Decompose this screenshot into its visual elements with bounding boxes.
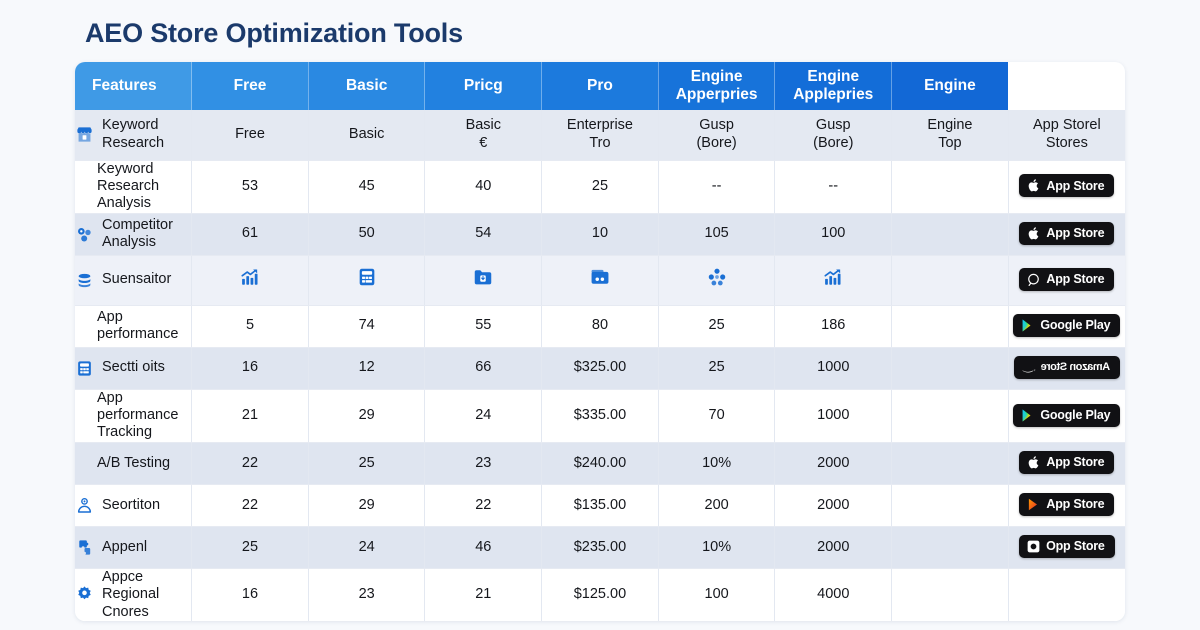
square-dot-icon (1026, 539, 1041, 554)
cell-pro: 10 (542, 213, 659, 255)
table-header: FeaturesFreeBasicPricgProEngine Apperpri… (75, 62, 1125, 110)
cell-engine-applepries: 1000 (775, 389, 892, 442)
storefront-icon (75, 125, 94, 144)
cell-engine-coverage[interactable]: Amazon Store (1008, 347, 1125, 389)
feature-cell: Suensaitor (75, 255, 192, 305)
cell-pro: $335.00 (542, 389, 659, 442)
column-header-line: Engine Coverage (1032, 68, 1103, 103)
cell-engine (892, 568, 1009, 621)
feature-cell: Keyword ResearchAnalysis (75, 160, 192, 213)
cell-engine-coverage[interactable]: App Store (1008, 484, 1125, 526)
store-badge-label: App Store (1046, 273, 1104, 286)
cell-pricg: 23 (425, 442, 542, 484)
cell-engine-apperpries (658, 255, 775, 305)
cell-engine (892, 213, 1009, 255)
table-row[interactable]: App performanceTracking212924$335.007010… (75, 389, 1125, 442)
calculator-icon (75, 359, 94, 378)
feature-cell: Competitor Analysis (75, 213, 192, 255)
cell-engine-applepries: -- (775, 160, 892, 213)
apple-icon (1026, 178, 1041, 193)
feature-label: Sectti oits (102, 359, 165, 376)
comparison-table-container: FeaturesFreeBasicPricgProEngine Apperpri… (75, 62, 1125, 621)
orange-triangle-icon (1026, 497, 1041, 512)
feature-cell: Appce RegionalCnores (75, 568, 192, 621)
store-badge-opp-store[interactable]: Opp Store (1019, 535, 1115, 558)
feature-cell: Seortiton (75, 484, 192, 526)
column-header-pricg[interactable]: Pricg (425, 62, 542, 110)
cell-engine-apperpries: Gusp(Bore) (658, 110, 775, 160)
cell-engine-applepries: 2000 (775, 484, 892, 526)
table-row[interactable]: Competitor Analysis61505410105100App Sto… (75, 213, 1125, 255)
column-header-free[interactable]: Free (192, 62, 309, 110)
feature-label: Appce RegionalCnores (102, 569, 191, 621)
cell-basic (308, 255, 425, 305)
column-header-engine-applepries[interactable]: Engine Applepries (775, 62, 892, 110)
column-header-engine-apperpries[interactable]: Engine Apperpries (658, 62, 775, 110)
calculator-icon (356, 266, 378, 288)
cell-engine-applepries: 186 (775, 305, 892, 347)
cell-engine (892, 347, 1009, 389)
cell-free: 5 (192, 305, 309, 347)
cell-engine-coverage[interactable]: App Store (1008, 442, 1125, 484)
cell-basic: Basic (308, 110, 425, 160)
cell-pro: $325.00 (542, 347, 659, 389)
column-header-line: Engine Apperpries (676, 68, 758, 103)
feature-cell: Sectti oits (75, 347, 192, 389)
store-badge-orange-app-store[interactable]: App Store (1019, 493, 1114, 516)
cell-free: 61 (192, 213, 309, 255)
cell-engine-apperpries: 100 (658, 568, 775, 621)
cell-free: 21 (192, 389, 309, 442)
feature-cell: Appenl (75, 526, 192, 568)
cell-free: 22 (192, 484, 309, 526)
folder-icon (472, 266, 494, 288)
page-root: AEO Store Optimization Tools FeaturesFre… (0, 0, 1200, 630)
column-header-line: Engine (924, 77, 976, 94)
cell-engine (892, 255, 1009, 305)
cell-pro: $135.00 (542, 484, 659, 526)
cell-pro: $240.00 (542, 442, 659, 484)
cell-basic: 50 (308, 213, 425, 255)
cell-basic: 45 (308, 160, 425, 213)
table-row[interactable]: Appce RegionalCnores162321$125.001004000 (75, 568, 1125, 621)
cell-pro: $235.00 (542, 526, 659, 568)
cell-pro: EnterpriseTro (542, 110, 659, 160)
cell-basic: 29 (308, 484, 425, 526)
cell-engine: EngineTop (892, 110, 1009, 160)
feature-label: Keyword ResearchAnalysis (97, 161, 191, 213)
cell-engine-coverage[interactable]: Opp Store (1008, 526, 1125, 568)
comparison-table: FeaturesFreeBasicPricgProEngine Apperpri… (75, 62, 1125, 621)
store-badge-label: App Store (1046, 180, 1104, 193)
feature-cell: A/B Testing (75, 442, 192, 484)
cell-engine-apperpries: 25 (658, 347, 775, 389)
table-row[interactable]: SuensaitorApp Store (75, 255, 1125, 305)
cell-basic: 24 (308, 526, 425, 568)
table-header-row: FeaturesFreeBasicPricgProEngine Apperpri… (75, 62, 1125, 110)
database-icon (75, 271, 94, 290)
store-badge-apple-app-store[interactable]: App Store (1019, 222, 1114, 245)
store-badge-amazon-store[interactable]: Amazon Store (1014, 356, 1120, 379)
feature-label: Competitor Analysis (102, 217, 191, 252)
cell-engine-coverage[interactable]: App Store (1008, 213, 1125, 255)
cell-engine-apperpries: 70 (658, 389, 775, 442)
table-row[interactable]: Keyword ResearchAnalysis53454025----App … (75, 160, 1125, 213)
cell-engine-applepries: 100 (775, 213, 892, 255)
cell-engine-coverage[interactable]: Google Play (1008, 305, 1125, 347)
column-header-line: Features (92, 77, 157, 94)
cell-engine-coverage[interactable]: App Store (1008, 160, 1125, 213)
cell-engine-apperpries: 10% (658, 526, 775, 568)
cell-engine (892, 526, 1009, 568)
cell-engine-applepries: 2000 (775, 526, 892, 568)
store-badge-apple-app-store[interactable]: App Store (1019, 451, 1114, 474)
feature-cell: Keyword Research (75, 110, 192, 160)
cell-engine (892, 389, 1009, 442)
feature-label: App performanceTracking (97, 390, 191, 442)
cell-engine (892, 160, 1009, 213)
cell-free: 53 (192, 160, 309, 213)
cell-basic: 74 (308, 305, 425, 347)
cell-pricg: 21 (425, 568, 542, 621)
store-badge-google-play[interactable]: Google Play (1013, 404, 1120, 427)
cell-engine-coverage (1008, 568, 1125, 621)
cell-pricg: 22 (425, 484, 542, 526)
cell-engine-applepries: Gusp(Bore) (775, 110, 892, 160)
apple-icon (1026, 226, 1041, 241)
play-triangle-icon (1020, 318, 1035, 333)
column-header-pro[interactable]: Pro (542, 62, 659, 110)
gear-cluster-icon (75, 225, 94, 244)
cell-free: 16 (192, 568, 309, 621)
gear-icon (75, 585, 94, 604)
chart-up-icon (239, 266, 261, 288)
cell-engine-applepries: 4000 (775, 568, 892, 621)
cell-engine-apperpries: 10% (658, 442, 775, 484)
store-badge-label: App Store (1046, 498, 1104, 511)
table-row[interactable]: Appenl252446$235.0010%2000Opp Store (75, 526, 1125, 568)
store-badge-label: App Store (1046, 227, 1104, 240)
cell-pricg: 55 (425, 305, 542, 347)
circle-outline-icon (1026, 272, 1041, 287)
cell-engine-applepries (775, 255, 892, 305)
column-header-line: Free (234, 77, 267, 94)
cell-free: Free (192, 110, 309, 160)
table-row[interactable]: Seortiton222922$135.002002000App Store (75, 484, 1125, 526)
cell-pro: 80 (542, 305, 659, 347)
store-badge-apple-app-store[interactable]: App Store (1019, 174, 1114, 197)
wallet-icon (589, 266, 611, 288)
cell-basic: 25 (308, 442, 425, 484)
cell-engine (892, 442, 1009, 484)
feature-label: Seortiton (102, 497, 160, 514)
table-row[interactable]: Keyword ResearchFreeBasicBasic€Enterpris… (75, 110, 1125, 160)
table-body: Keyword ResearchFreeBasicBasic€Enterpris… (75, 110, 1125, 621)
store-badge-label: Opp Store (1046, 540, 1105, 553)
column-header-line: Pricg (464, 77, 503, 94)
cell-pricg (425, 255, 542, 305)
cell-pro: 25 (542, 160, 659, 213)
column-header-basic[interactable]: Basic (308, 62, 425, 110)
table-row[interactable]: A/B Testing222523$240.0010%2000App Store (75, 442, 1125, 484)
people-cluster-icon (706, 266, 728, 288)
cell-pricg: Basic€ (425, 110, 542, 160)
page-title: AEO Store Optimization Tools (85, 18, 463, 49)
table-row[interactable]: App performance574558025186Google Play (75, 305, 1125, 347)
puzzle-icon (75, 538, 94, 557)
cell-engine (892, 305, 1009, 347)
cell-engine-coverage: App StorelStores (1008, 110, 1125, 160)
play-triangle-icon (1020, 408, 1035, 423)
cell-basic: 29 (308, 389, 425, 442)
store-badge-label: Amazon Store (1041, 362, 1110, 373)
cell-engine-apperpries: 105 (658, 213, 775, 255)
feature-label: A/B Testing (97, 455, 170, 472)
cell-free: 16 (192, 347, 309, 389)
cell-engine-coverage[interactable]: App Store (1008, 255, 1125, 305)
cell-free: 22 (192, 442, 309, 484)
amazon-icon (1021, 360, 1036, 375)
column-header-line: Engine Applepries (793, 68, 873, 103)
cell-engine-applepries: 1000 (775, 347, 892, 389)
feature-cell: App performance (75, 305, 192, 347)
cell-basic: 23 (308, 568, 425, 621)
column-header-features[interactable]: Features (75, 62, 192, 110)
cell-basic: 12 (308, 347, 425, 389)
cell-pro (542, 255, 659, 305)
apple-icon (1026, 455, 1041, 470)
cell-pro: $125.00 (542, 568, 659, 621)
cell-pricg: 40 (425, 160, 542, 213)
store-badge-google-play[interactable]: Google Play (1013, 314, 1120, 337)
store-badge-label: Google Play (1040, 319, 1110, 332)
feature-label: Suensaitor (102, 271, 171, 288)
feature-label: App performance (97, 309, 191, 344)
cell-engine-apperpries: -- (658, 160, 775, 213)
feature-label: Keyword Research (102, 117, 191, 152)
chart-up-icon (822, 266, 844, 288)
store-badge-label: App Store (1046, 456, 1104, 469)
table-row[interactable]: Sectti oits161266$325.00251000Amazon Sto… (75, 347, 1125, 389)
cell-engine-coverage[interactable]: Google Play (1008, 389, 1125, 442)
cell-free (192, 255, 309, 305)
cell-free: 25 (192, 526, 309, 568)
cell-engine-apperpries: 200 (658, 484, 775, 526)
store-badge-label: Google Play (1040, 409, 1110, 422)
feature-label: Appenl (102, 539, 147, 556)
cell-pricg: 24 (425, 389, 542, 442)
column-header-line: Basic (346, 77, 387, 94)
cell-engine-apperpries: 25 (658, 305, 775, 347)
column-header-engine[interactable]: Engine (892, 62, 1009, 110)
cell-engine-applepries: 2000 (775, 442, 892, 484)
cell-engine (892, 484, 1009, 526)
cell-pricg: 66 (425, 347, 542, 389)
column-header-engine-coverage[interactable]: Engine Coverage (1008, 62, 1125, 110)
cell-pricg: 46 (425, 526, 542, 568)
cell-pricg: 54 (425, 213, 542, 255)
store-badge-circle-app-store[interactable]: App Store (1019, 268, 1114, 291)
feature-cell: App performanceTracking (75, 389, 192, 442)
column-header-line: Pro (587, 77, 613, 94)
user-badge-icon (75, 496, 94, 515)
